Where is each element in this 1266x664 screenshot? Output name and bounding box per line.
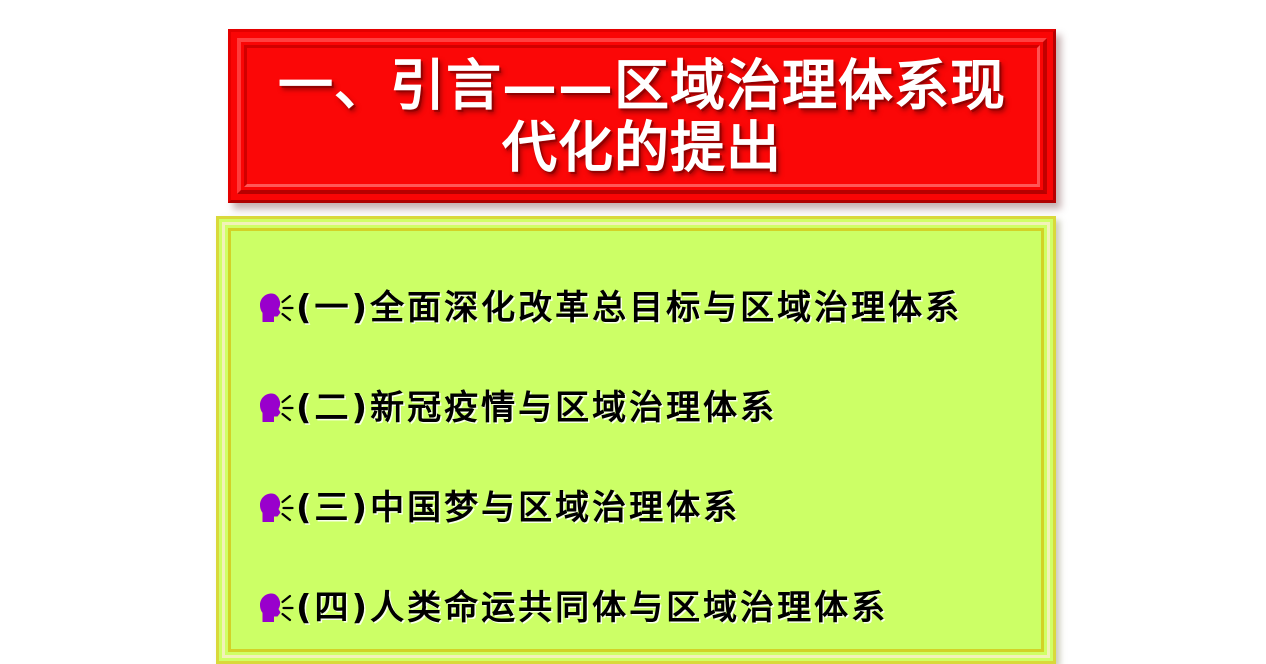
list-item-label: (四)人类命运共同体与区域治理体系 [296, 591, 888, 625]
speaking-head-icon [257, 391, 295, 425]
list-item[interactable]: (四)人类命运共同体与区域治理体系 [257, 579, 1027, 637]
list-item-label: (二)新冠疫情与区域治理体系 [296, 391, 777, 425]
slide-title: 一、引言——区域治理体系现 代化的提出 [253, 54, 1031, 177]
speaking-head-icon [257, 291, 295, 325]
content-frame-inner: (一)全面深化改革总目标与区域治理体系 (二)新冠疫情与区域治理体系 [228, 228, 1044, 652]
list-item[interactable]: (二)新冠疫情与区域治理体系 [257, 379, 1027, 437]
slide-title-box: 一、引言——区域治理体系现 代化的提出 [228, 29, 1056, 203]
speaking-head-icon [257, 491, 295, 525]
list-item[interactable]: (三)中国梦与区域治理体系 [257, 479, 1027, 537]
list-item[interactable]: (一)全面深化改革总目标与区域治理体系 [257, 279, 1027, 337]
presentation-slide: 一、引言——区域治理体系现 代化的提出 (一)全面深化改革总目标与区域治理体系 [0, 0, 1266, 664]
speaking-head-icon [257, 591, 295, 625]
slide-content-box: (一)全面深化改革总目标与区域治理体系 (二)新冠疫情与区域治理体系 [216, 216, 1056, 664]
list-item-label: (三)中国梦与区域治理体系 [296, 491, 740, 525]
list-item-label: (一)全面深化改革总目标与区域治理体系 [296, 291, 962, 325]
bullet-list: (一)全面深化改革总目标与区域治理体系 (二)新冠疫情与区域治理体系 [249, 249, 1027, 635]
